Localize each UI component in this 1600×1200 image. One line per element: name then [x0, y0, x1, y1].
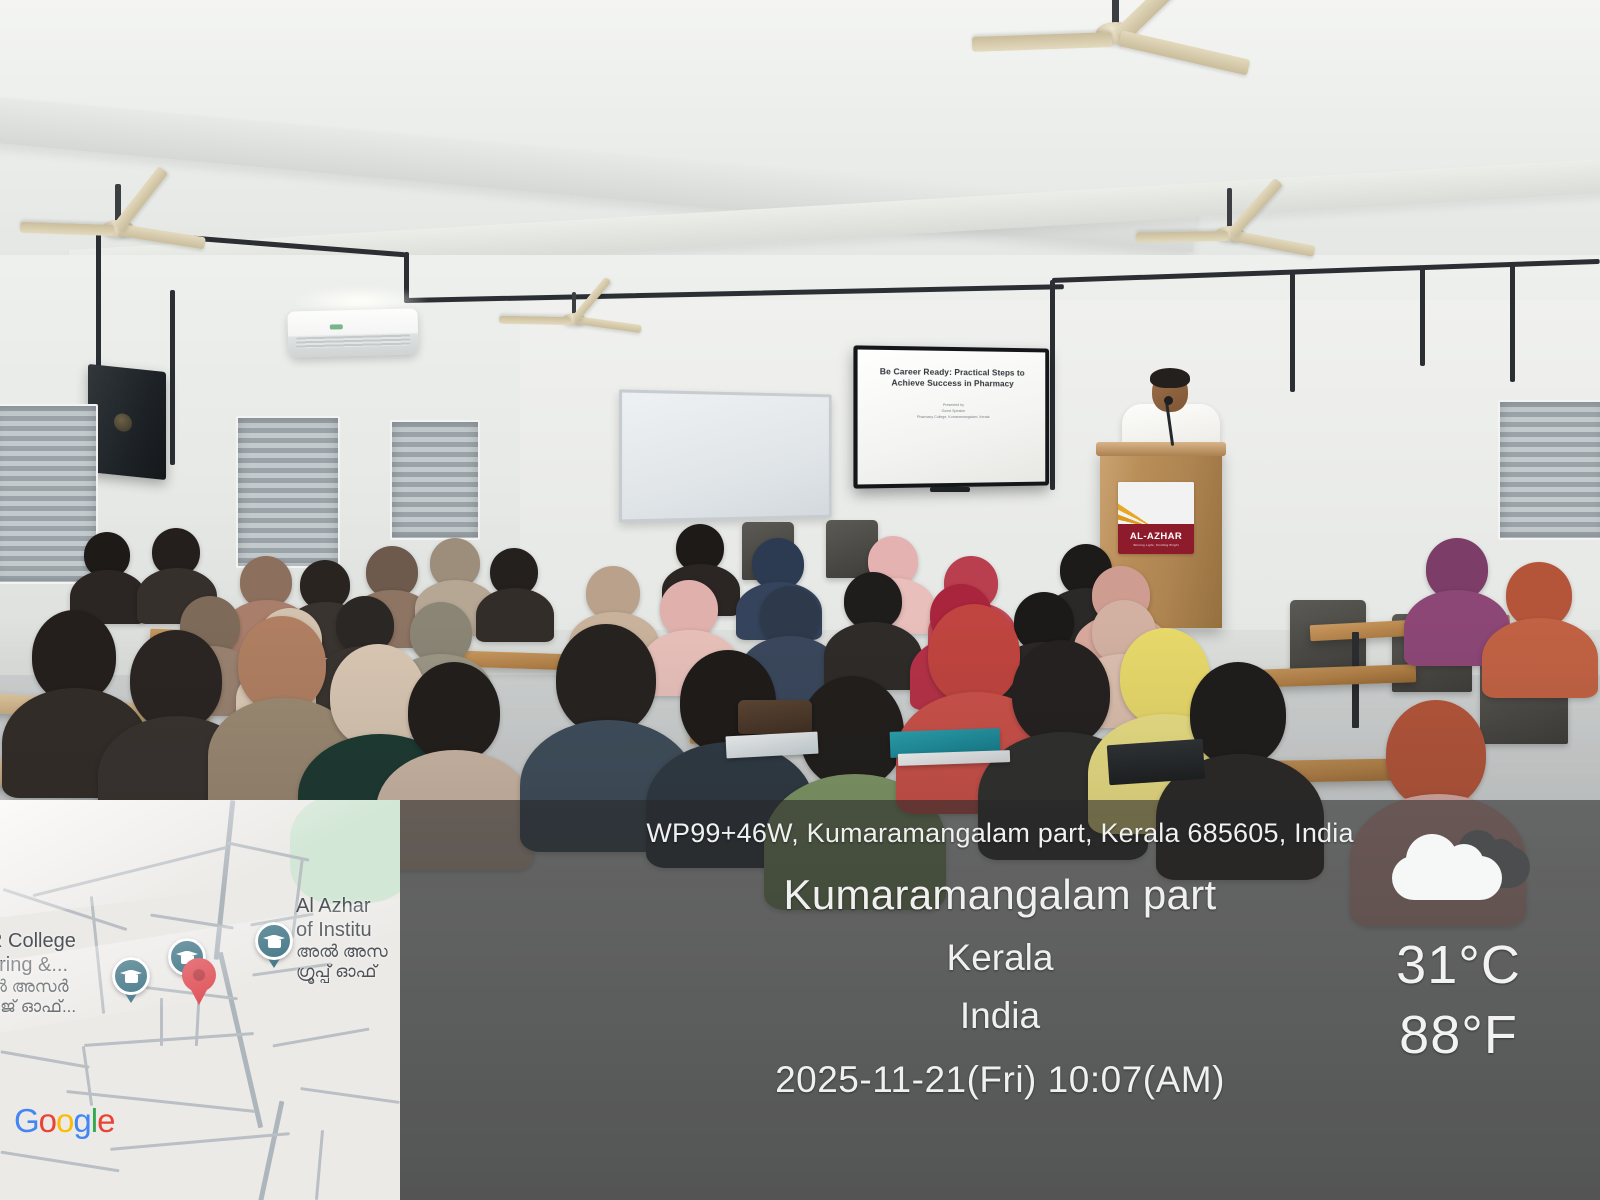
map-road: [315, 1130, 324, 1200]
logo-tagline: Shining Light, Kindling Bright: [1133, 543, 1179, 547]
map-road: [257, 1101, 285, 1200]
gps-overlay-panel: WP99+46W, Kumaramangalam part, Kerala 68…: [400, 800, 1600, 1200]
map-label-line2: ering &...: [0, 954, 76, 978]
google-logo-letter-2: o: [56, 1102, 73, 1140]
slide-subtitle: Presented by Guest Speaker Pharmacy Coll…: [879, 402, 1025, 421]
map-road: [90, 896, 105, 1014]
ac-led-indicator: [330, 324, 343, 329]
gps-datetime: 2025-11-21(Fri) 10:07(AM): [775, 1059, 1225, 1101]
wall-speaker: [88, 364, 166, 480]
map-road: [195, 1002, 200, 1046]
conduit-pipe: [1510, 262, 1515, 382]
map-road: [300, 1087, 399, 1104]
current-location-pin-icon[interactable]: [182, 958, 216, 1004]
display-mount: [930, 487, 970, 492]
conduit-pipe: [1050, 280, 1055, 490]
map-road: [0, 1050, 89, 1069]
map-label-college: R College ering &... ൽ അസർ ളജ് ഓഫ്...: [0, 930, 76, 1017]
conduit-pipe: [1420, 266, 1425, 366]
map-label-malayalam2: ഗ്രൂപ്പ് ഓഫ്: [296, 962, 388, 982]
slide-title: Be Career Ready: Practical Steps to Achi…: [871, 366, 1032, 390]
google-logo-letter-5: e: [97, 1102, 114, 1140]
microphone-icon: [1164, 396, 1173, 405]
map-label-malayalam2: ളജ് ഓഫ്...: [0, 997, 76, 1017]
conduit-pipe: [170, 290, 175, 465]
google-logo-letter-3: g: [73, 1102, 90, 1140]
map-road: [82, 1046, 93, 1106]
map-road: [3, 888, 128, 931]
partly-cloudy-icon: [1384, 826, 1534, 912]
laptop: [1107, 739, 1206, 786]
temperature-fahrenheit: 88°F: [1399, 1004, 1518, 1066]
conduit-pipe: [1290, 272, 1295, 392]
map-label-malayalam1: ൽ അസർ: [0, 977, 76, 997]
gps-state: Kerala: [947, 937, 1054, 979]
google-logo: Google: [14, 1102, 114, 1140]
map-road: [218, 952, 263, 1129]
presenter-hair: [1150, 368, 1190, 388]
map-road: [1, 1151, 120, 1173]
logo-band: AL-AZHAR Shining Light, Kindling Bright: [1118, 524, 1194, 554]
sunburst-icon: [1118, 482, 1194, 524]
map-label-malayalam1: അൽ അസ: [296, 942, 388, 962]
map-green-area: [290, 800, 400, 904]
map-road: [110, 1132, 290, 1151]
slide-subtitle-line3: Pharmacy College, Kumaramangalam, Kerala: [879, 414, 1025, 420]
map-road: [214, 800, 236, 960]
gps-country: India: [960, 995, 1040, 1037]
gps-address: WP99+46W, Kumaramangalam part, Kerala 68…: [646, 818, 1353, 849]
map-label-line1: Al Azhar: [296, 895, 388, 919]
wall-mounted-display: Be Career Ready: Practical Steps to Achi…: [853, 345, 1049, 488]
conduit-pipe: [96, 230, 101, 380]
map-thumbnail[interactable]: R College ering &... ൽ അസർ ളജ് ഓഫ്... Al…: [0, 800, 400, 1200]
map-road: [33, 846, 228, 897]
air-conditioner-unit: [287, 308, 418, 357]
gps-city: Kumaramangalam part: [784, 871, 1217, 919]
map-label-al-azhar: Al Azhar of Institu അൽ അസ ഗ്രൂപ്പ് ഓഫ്: [296, 895, 388, 982]
presentation-slide: Be Career Ready: Practical Steps to Achi…: [858, 350, 1046, 485]
weather-block: 31°C 88°F: [1351, 826, 1566, 1066]
google-logo-letter-0: G: [14, 1102, 39, 1140]
temperature-celsius: 31°C: [1396, 934, 1521, 996]
map-label-line1: R College: [0, 930, 76, 954]
map-road: [84, 1032, 254, 1047]
al-azhar-logo: AL-AZHAR Shining Light, Kindling Bright: [1118, 482, 1194, 554]
handbag: [738, 700, 812, 734]
google-logo-letter-1: o: [39, 1102, 56, 1140]
map-road: [272, 1028, 369, 1048]
map-road: [160, 998, 163, 1046]
window-blind: [236, 416, 340, 568]
podium-top: [1096, 442, 1226, 456]
screenshot-root: Be Career Ready: Practical Steps to Achi…: [0, 0, 1600, 1200]
logo-name: AL-AZHAR: [1130, 531, 1182, 542]
map-label-line2: of Institu: [296, 919, 388, 943]
whiteboard: [619, 389, 832, 522]
window-blind: [390, 420, 480, 540]
window-blind: [1498, 400, 1600, 540]
